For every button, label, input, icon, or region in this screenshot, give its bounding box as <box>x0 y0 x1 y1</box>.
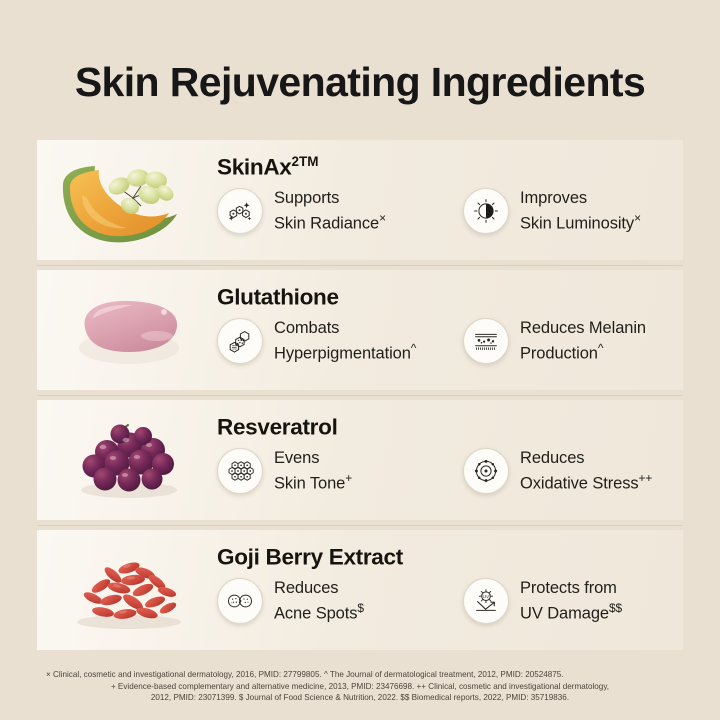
benefit-text: ReducesAcne Spots$ <box>274 578 364 625</box>
ingredient-row-skinax: SkinAx2TM <box>37 140 683 260</box>
honeycomb-cells-icon <box>217 448 263 494</box>
benefit-item: UV <box>463 578 683 625</box>
footnote-line: × Clinical, cosmetic and investigational… <box>46 669 674 681</box>
ingredient-row-resveratrol: Resveratrol <box>37 400 683 520</box>
benefit-item: ReducesAcne Spots$ <box>217 578 463 625</box>
ingredient-content: Glutathione <box>217 270 683 364</box>
benefit-item: Reduces MelaninProduction^ <box>463 318 683 365</box>
dark-purple-grape-cluster-image <box>37 400 217 520</box>
benefit-text: Reduces MelaninProduction^ <box>520 318 646 365</box>
benefit-text: Protects fromUV Damage$$ <box>520 578 622 625</box>
uv-shield-icon: UV <box>463 578 509 624</box>
benefit-list: EvensSkin Tone+ <box>217 448 683 495</box>
half-moon-rays-icon <box>463 188 509 234</box>
page-title: Skin Rejuvenating Ingredients <box>0 58 720 106</box>
ingredient-name: SkinAx2TM <box>217 149 683 181</box>
ingredient-name: Goji Berry Extract <box>217 539 683 571</box>
ingredient-row-goji: Goji Berry Extract <box>37 530 683 650</box>
benefit-item: SupportsSkin Radiance× <box>217 188 463 235</box>
benefit-text: ImprovesSkin Luminosity× <box>520 188 641 235</box>
benefit-text: ReducesOxidative Stress++ <box>520 448 652 495</box>
ingredient-name: Resveratrol <box>217 409 683 441</box>
footnotes: × Clinical, cosmetic and investigational… <box>46 669 674 704</box>
ingredient-content: SkinAx2TM <box>217 140 683 234</box>
overlapping-hexagons-icon <box>217 318 263 364</box>
benefit-text: CombatsHyperpigmentation^ <box>274 318 416 365</box>
infographic-page: Skin Rejuvenating Ingredients <box>0 0 720 720</box>
benefit-text: EvensSkin Tone+ <box>274 448 352 495</box>
benefit-item: ImprovesSkin Luminosity× <box>463 188 683 235</box>
benefit-text: SupportsSkin Radiance× <box>274 188 386 235</box>
acne-spots-reduction-icon <box>217 578 263 624</box>
benefit-list: ReducesAcne Spots$ UV <box>217 578 683 625</box>
svg-text:UV: UV <box>483 594 489 599</box>
ingredient-content: Resveratrol <box>217 400 683 494</box>
benefit-item: CombatsHyperpigmentation^ <box>217 318 463 365</box>
skin-cells-sparkle-icon <box>217 188 263 234</box>
ingredient-content: Goji Berry Extract <box>217 530 683 624</box>
dried-goji-berries-pile-image <box>37 530 217 650</box>
benefit-item: ReducesOxidative Stress++ <box>463 448 683 495</box>
atom-antioxidant-icon <box>463 448 509 494</box>
ingredient-name: Glutathione <box>217 279 683 311</box>
footnote-line: 2012, PMID: 23071399. $ Journal of Food … <box>46 692 674 704</box>
melon-slice-with-green-grapes-image <box>37 140 217 260</box>
benefit-list: CombatsHyperpigmentation^ <box>217 318 683 365</box>
pink-glossy-pebble-image <box>37 270 217 390</box>
footnote-line: + Evidence-based complementary and alter… <box>46 681 674 693</box>
benefit-item: EvensSkin Tone+ <box>217 448 463 495</box>
benefit-list: SupportsSkin Radiance× <box>217 188 683 235</box>
ingredient-list: SkinAx2TM <box>37 140 683 650</box>
skin-layers-melanin-icon <box>463 318 509 364</box>
ingredient-row-glutathione: Glutathione <box>37 270 683 390</box>
